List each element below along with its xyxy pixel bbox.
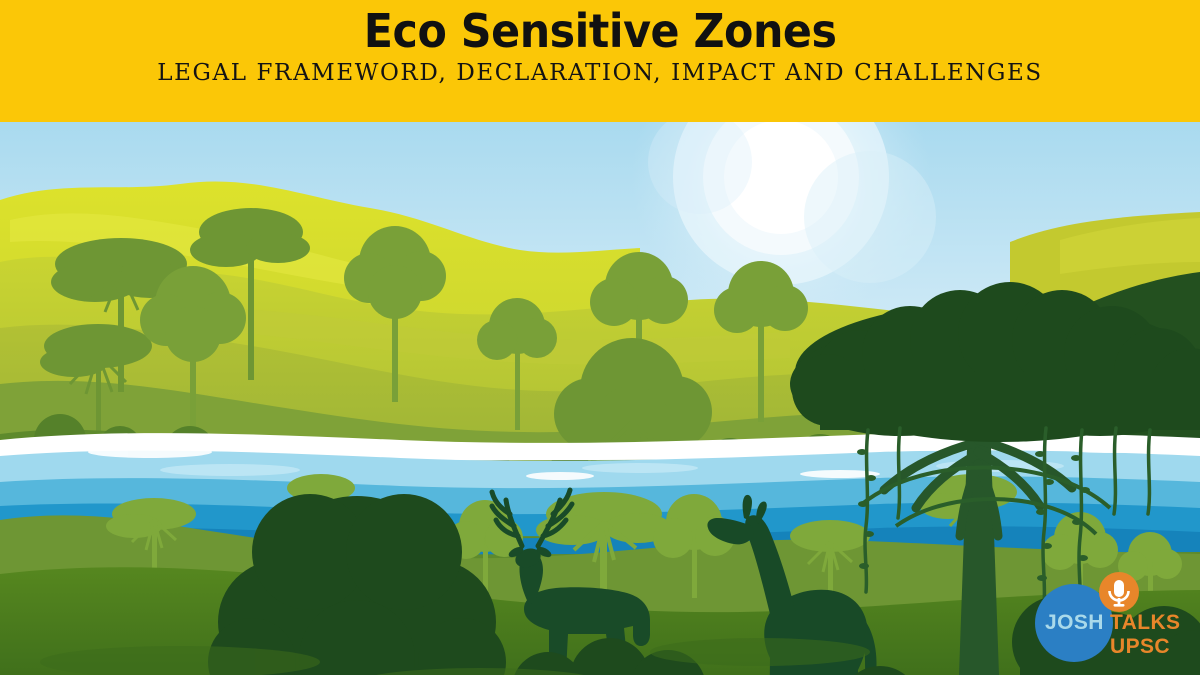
- logo-orange-circle: [1099, 572, 1139, 612]
- illustration-scene: [0, 122, 1200, 675]
- logo-word-josh: JOSH: [1045, 611, 1104, 634]
- logo-word-upsc: UPSC: [1110, 635, 1170, 658]
- logo-word-talks: TALKS: [1110, 611, 1180, 634]
- page-subtitle: LEGAL FRAMEWORD, DECLARATION, IMPACT AND…: [157, 62, 1042, 85]
- josh-talks-upsc-logo[interactable]: JOSH TALKS UPSC: [1022, 571, 1190, 663]
- poster-root: Eco Sensitive Zones LEGAL FRAMEWORD, DEC…: [0, 0, 1200, 675]
- page-title: Eco Sensitive Zones: [364, 6, 837, 58]
- header-banner: Eco Sensitive Zones LEGAL FRAMEWORD, DEC…: [0, 0, 1200, 122]
